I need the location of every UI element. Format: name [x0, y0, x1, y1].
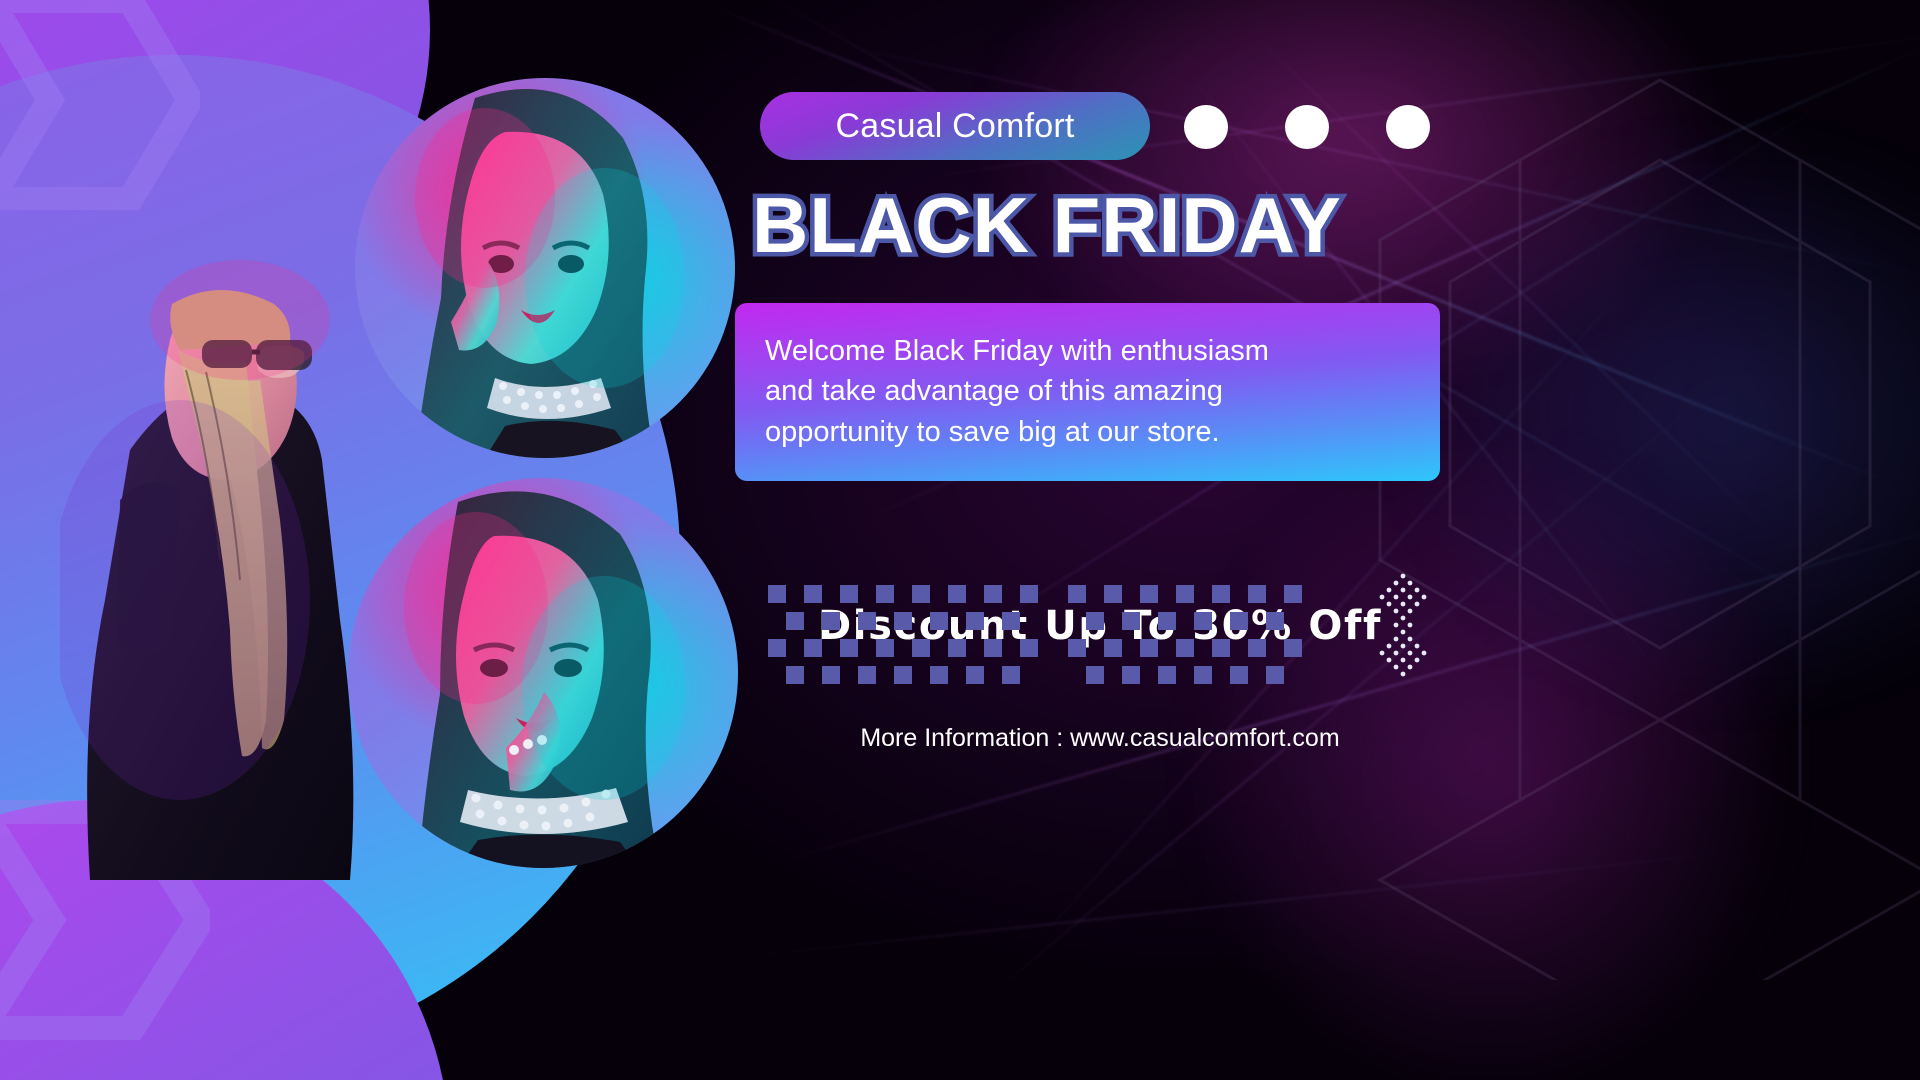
portrait-model-top — [355, 78, 735, 458]
page-title: BLACK FRIDAY — [752, 186, 1452, 264]
promo-message-line-3: opportunity to save big at our store. — [765, 412, 1410, 452]
portrait-model-bottom — [348, 478, 738, 868]
footer-more-information[interactable]: More Information : www.casualcomfort.com — [760, 724, 1440, 753]
black-friday-banner: Casual Comfort BLACK FRIDAY Welcome Blac… — [0, 0, 1920, 1080]
checkerboard-decor — [768, 585, 1328, 695]
decor-dot — [1285, 105, 1329, 149]
brand-pill[interactable]: Casual Comfort — [760, 92, 1150, 160]
promo-message-line-1: Welcome Black Friday with enthusiasm — [765, 331, 1410, 371]
decor-dot — [1386, 105, 1430, 149]
diamond-halftone-icon — [1368, 570, 1438, 690]
blue-glow — [1380, 120, 1920, 720]
brand-pill-label: Casual Comfort — [836, 107, 1075, 146]
checkerboard-block-right — [1068, 585, 1310, 685]
promo-message-line-2: and take advantage of this amazing — [765, 371, 1410, 411]
decor-dots — [1184, 105, 1430, 149]
checkerboard-block-left — [768, 585, 1040, 685]
decor-dot — [1184, 105, 1228, 149]
promo-message-box: Welcome Black Friday with enthusiasm and… — [735, 303, 1440, 481]
